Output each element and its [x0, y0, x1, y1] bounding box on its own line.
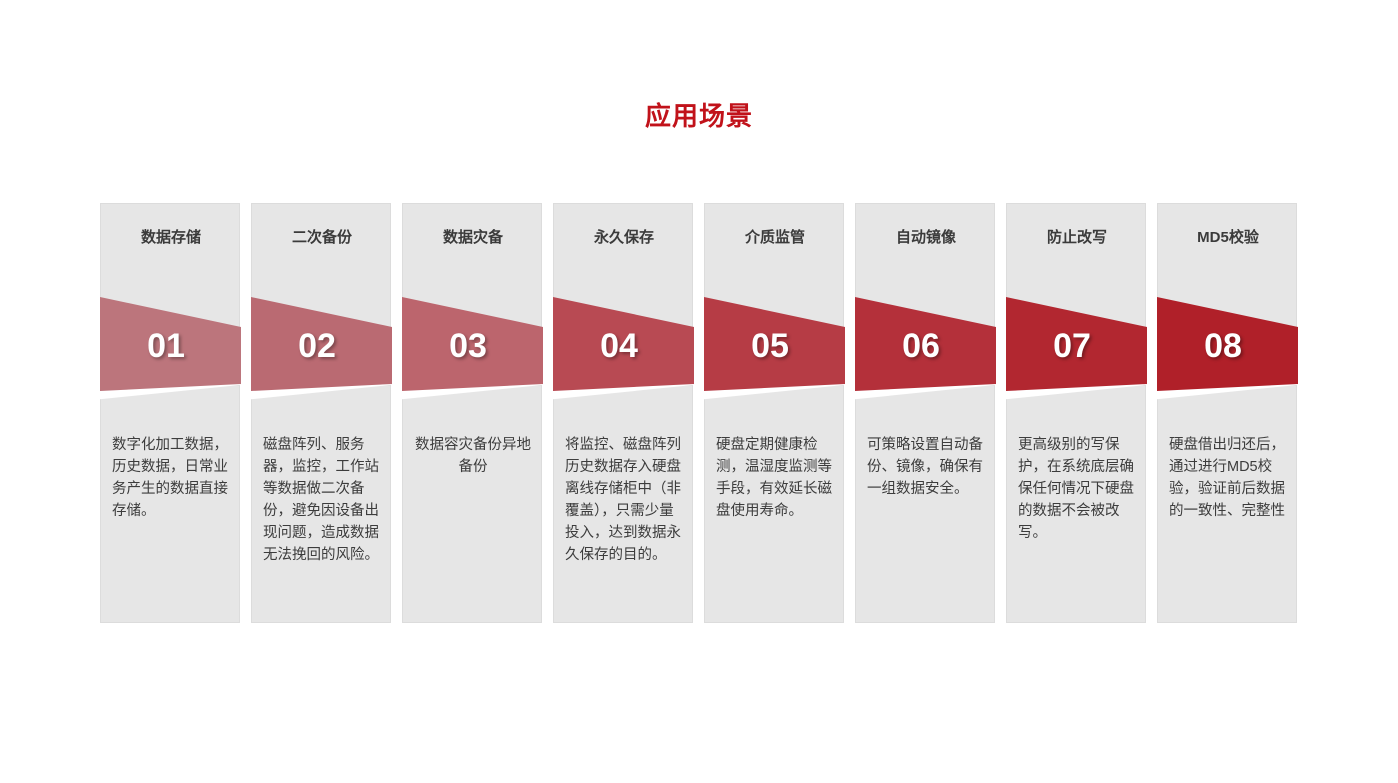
card-number: 04 [553, 326, 685, 366]
card-title: 数据存储 [101, 228, 241, 248]
card-title: 防止改写 [1007, 228, 1147, 248]
scenario-card[interactable]: MD5校验 08 硬盘借出归还后，通过进行MD5校验，验证前后数据的一致性、完整… [1157, 203, 1297, 623]
card-description: 数据容灾备份异地备份 [414, 434, 532, 478]
card-description: 将监控、磁盘阵列历史数据存入硬盘离线存储柜中（非覆盖），只需少量投入，达到数据永… [565, 434, 683, 566]
card-title: 数据灾备 [403, 228, 543, 248]
card-number: 01 [100, 326, 232, 366]
card-title: 永久保存 [554, 228, 694, 248]
card-title: 二次备份 [252, 228, 392, 248]
card-body-panel: 磁盘阵列、服务器，监控，工作站等数据做二次备份，避免因设备出现问题，造成数据无法… [251, 385, 391, 623]
scenario-card[interactable]: 数据存储 01 数字化加工数据，历史数据，日常业务产生的数据直接存储。 [100, 203, 240, 623]
card-description: 数字化加工数据，历史数据，日常业务产生的数据直接存储。 [112, 434, 230, 522]
card-body-panel: 硬盘借出归还后，通过进行MD5校验，验证前后数据的一致性、完整性 [1157, 385, 1297, 623]
card-number: 03 [402, 326, 534, 366]
card-body-panel: 数据容灾备份异地备份 [402, 385, 542, 623]
card-body-panel: 数字化加工数据，历史数据，日常业务产生的数据直接存储。 [100, 385, 240, 623]
card-number: 08 [1157, 326, 1289, 366]
card-description: 磁盘阵列、服务器，监控，工作站等数据做二次备份，避免因设备出现问题，造成数据无法… [263, 434, 381, 566]
card-number: 06 [855, 326, 987, 366]
card-body-panel: 可策略设置自动备份、镜像，确保有一组数据安全。 [855, 385, 995, 623]
scenario-card[interactable]: 数据灾备 03 数据容灾备份异地备份 [402, 203, 542, 623]
card-description: 硬盘定期健康检测，温湿度监测等手段，有效延长磁盘使用寿命。 [716, 434, 834, 522]
scenario-card[interactable]: 防止改写 07 更高级别的写保护，在系统底层确保任何情况下硬盘的数据不会被改写。 [1006, 203, 1146, 623]
card-description: 可策略设置自动备份、镜像，确保有一组数据安全。 [867, 434, 985, 500]
card-title: 介质监管 [705, 228, 845, 248]
card-body-panel: 更高级别的写保护，在系统底层确保任何情况下硬盘的数据不会被改写。 [1006, 385, 1146, 623]
card-body-panel: 硬盘定期健康检测，温湿度监测等手段，有效延长磁盘使用寿命。 [704, 385, 844, 623]
card-title: MD5校验 [1158, 228, 1298, 248]
scenario-card[interactable]: 介质监管 05 硬盘定期健康检测，温湿度监测等手段，有效延长磁盘使用寿命。 [704, 203, 844, 623]
card-description: 更高级别的写保护，在系统底层确保任何情况下硬盘的数据不会被改写。 [1018, 434, 1136, 544]
scenario-card[interactable]: 自动镜像 06 可策略设置自动备份、镜像，确保有一组数据安全。 [855, 203, 995, 623]
card-number: 05 [704, 326, 836, 366]
card-title: 自动镜像 [856, 228, 996, 248]
card-description: 硬盘借出归还后，通过进行MD5校验，验证前后数据的一致性、完整性 [1169, 434, 1287, 522]
application-scenario-card-row: 数据存储 01 数字化加工数据，历史数据，日常业务产生的数据直接存储。 二次备份… [100, 203, 1310, 623]
scenario-card[interactable]: 二次备份 02 磁盘阵列、服务器，监控，工作站等数据做二次备份，避免因设备出现问… [251, 203, 391, 623]
card-number: 07 [1006, 326, 1138, 366]
page-title: 应用场景 [0, 99, 1398, 133]
card-number: 02 [251, 326, 383, 366]
card-body-panel: 将监控、磁盘阵列历史数据存入硬盘离线存储柜中（非覆盖），只需少量投入，达到数据永… [553, 385, 693, 623]
scenario-card[interactable]: 永久保存 04 将监控、磁盘阵列历史数据存入硬盘离线存储柜中（非覆盖），只需少量… [553, 203, 693, 623]
